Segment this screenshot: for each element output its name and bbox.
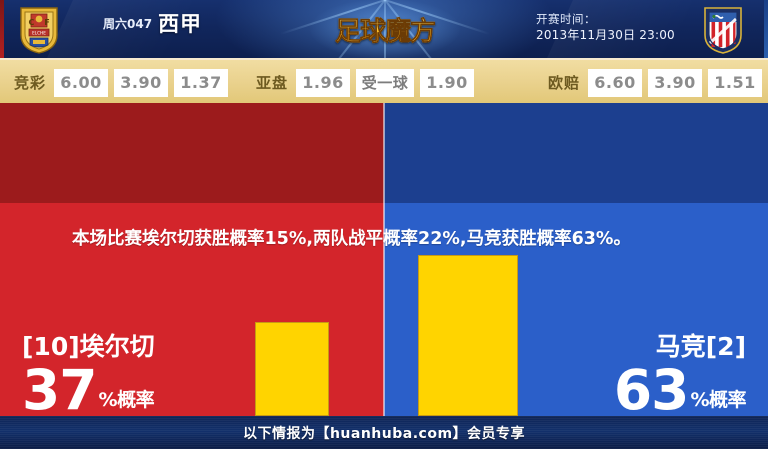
odds-cell-handicap[interactable]: 受一球 (356, 69, 414, 97)
away-percent-row: 63 %概率 (614, 365, 746, 415)
brand-text: 足球魔方 (335, 11, 435, 48)
odds-cell-away[interactable]: 1.37 (174, 69, 228, 97)
elche-crest-icon: ELCHE C F (16, 5, 62, 55)
svg-text:C: C (29, 18, 35, 27)
brand-logo: 足球魔方 (322, 6, 448, 52)
home-percent-value: 37 (22, 365, 97, 415)
away-percent-suffix: %概率 (688, 391, 746, 415)
odds-cell-draw[interactable]: 3.90 (648, 69, 702, 97)
away-probability-bar (418, 255, 518, 416)
kickoff-label: 开赛时间： (536, 11, 675, 27)
odds-cell-draw[interactable]: 3.90 (114, 69, 168, 97)
league-name: 西甲 (158, 14, 202, 35)
svg-text:ELCHE: ELCHE (32, 31, 46, 36)
match-prediction-infographic: ELCHE C F 周六047 西甲 足球魔方 开赛时间： 2013年11月30… (0, 0, 768, 449)
odds-cell-away[interactable]: 1.90 (420, 69, 474, 97)
center-divider (383, 103, 385, 416)
odds-group-yapan: 亚盘 1.96 受一球 1.90 (256, 60, 474, 105)
kickoff-info: 开赛时间： 2013年11月30日 23:00 (536, 11, 675, 44)
round-number: 周六047 (103, 15, 152, 35)
odds-cell-away[interactable]: 1.51 (708, 69, 762, 97)
home-probability-bar (255, 322, 329, 416)
odds-cell-home[interactable]: 6.00 (54, 69, 108, 97)
svg-text:F: F (44, 18, 49, 27)
odds-group-label: 亚盘 (256, 72, 288, 93)
odds-bar: 竞彩 6.00 3.90 1.37 亚盘 1.96 受一球 1.90 欧赔 6.… (0, 58, 768, 103)
header-left-edge (0, 0, 4, 58)
odds-group-oupei: 欧赔 6.60 3.90 1.51 (548, 60, 762, 105)
away-dark-band (384, 103, 768, 203)
prediction-headline: 本场比赛埃尔切获胜概率15%,两队战平概率22%,马竞获胜概率63%。 (72, 225, 700, 254)
header-bar: ELCHE C F 周六047 西甲 足球魔方 开赛时间： 2013年11月30… (0, 0, 768, 58)
away-percent-value: 63 (614, 365, 689, 415)
footer-text: 以下情报为【huanhuba.com】会员专享 (243, 423, 525, 443)
odds-cell-home[interactable]: 6.60 (588, 69, 642, 97)
kickoff-time: 2013年11月30日 23:00 (536, 27, 675, 44)
league-info: 周六047 西甲 (103, 14, 202, 35)
home-percent-row: 37 %概率 (22, 365, 155, 415)
probability-chart: 本场比赛埃尔切获胜概率15%,两队战平概率22%,马竞获胜概率63%。 [10]… (0, 103, 768, 416)
atletico-madrid-crest-icon (700, 5, 746, 55)
odds-group-jingcai: 竞彩 6.00 3.90 1.37 (14, 60, 228, 105)
header-right-edge (764, 0, 768, 58)
home-dark-band (0, 103, 384, 203)
home-percent-suffix: %概率 (97, 391, 155, 415)
odds-group-label: 竞彩 (14, 72, 46, 93)
odds-cell-home[interactable]: 1.96 (296, 69, 350, 97)
footer-bar: 以下情报为【huanhuba.com】会员专享 (0, 416, 768, 449)
odds-group-label: 欧赔 (548, 72, 580, 93)
